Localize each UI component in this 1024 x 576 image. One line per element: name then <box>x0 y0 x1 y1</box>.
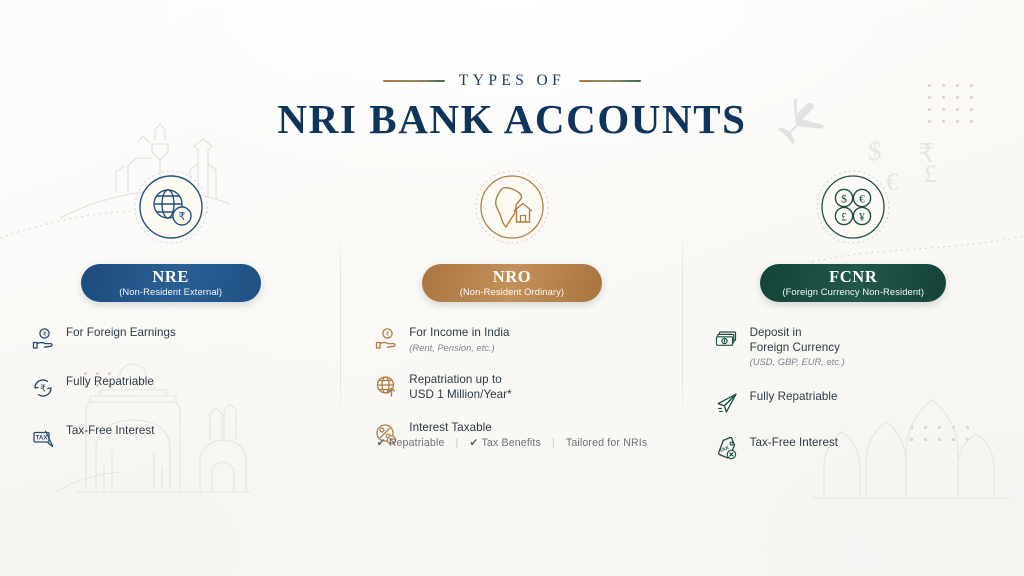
globe-up-arrow-icon <box>374 374 398 398</box>
feature-text: Interest Taxable <box>409 421 491 436</box>
footer-separator: | <box>552 437 555 449</box>
badge-nre: ₹ <box>132 168 210 246</box>
pill-fcnr[interactable]: FCNR (Foreign Currency Non-Resident) <box>760 264 946 302</box>
account-column-nre: ₹ NRE (Non-Resident External) ₹ For Fore… <box>0 168 341 482</box>
pill-full-name: (Non-Resident External) <box>119 287 222 297</box>
pill-full-name: (Non-Resident Ordinary) <box>460 287 564 297</box>
eyebrow-row: TYPES OF <box>0 72 1024 90</box>
eyebrow-rule-right <box>579 80 641 82</box>
paper-plane-icon <box>715 391 739 415</box>
svg-text:₹: ₹ <box>42 332 46 339</box>
footer-item-repatriable: ✔Repatriable <box>377 437 445 449</box>
multi-currency-coins-icon: $ € £ ¥ <box>814 168 892 246</box>
feature-text: Fully Repatriable <box>750 390 838 405</box>
repatriate-rupee-arrows-icon: ₹ <box>31 376 55 400</box>
feature-list-fcnr: Deposit in Foreign Currency (USD, GBP, E… <box>651 326 1024 482</box>
svg-text:€: € <box>859 193 865 205</box>
feature-text: Fully Repatriable <box>66 375 154 390</box>
feature-label: Fully Repatriable <box>66 375 154 390</box>
badge-nro <box>473 168 551 246</box>
account-column-nro: NRO (Non-Resident Ordinary) ₹ For Income… <box>341 168 682 482</box>
footer-item-2-label: Tax Benefits <box>481 437 541 449</box>
badge-fcnr: $ € £ ¥ <box>814 168 892 246</box>
feature-text: For Foreign Earnings <box>66 326 176 341</box>
header: TYPES OF NRI BANK ACCOUNTS <box>0 72 1024 143</box>
feature-label-line2: Foreign Currency <box>750 341 845 356</box>
pill-nre[interactable]: NRE (Non-Resident External) <box>81 264 261 302</box>
footer-item-3-label: Tailored for NRIs <box>566 437 647 449</box>
feature-item: Deposit in Foreign Currency (USD, GBP, E… <box>715 326 1024 369</box>
pill-abbr: NRO <box>493 269 531 286</box>
check-icon: ✔ <box>469 437 478 449</box>
hand-rupee-coin-icon: ₹ <box>374 327 398 351</box>
feature-label: Fully Repatriable <box>750 390 838 405</box>
footer-item-tax-benefits: ✔Tax Benefits <box>469 437 541 449</box>
feature-label: For Foreign Earnings <box>66 326 176 341</box>
feature-sublabel: (Rent, Pension, etc.) <box>409 342 509 354</box>
india-map-house-icon <box>473 168 551 246</box>
feature-label: Interest Taxable <box>409 421 491 436</box>
check-icon: ✔ <box>377 437 386 449</box>
feature-item: Fully Repatriable <box>715 390 1024 415</box>
account-columns: ₹ NRE (Non-Resident External) ₹ For Fore… <box>0 168 1024 482</box>
footer-item-1-label: Repatriable <box>389 437 445 449</box>
pill-abbr: FCNR <box>829 269 877 286</box>
feature-text: Repatriation up to USD 1 Million/Year* <box>409 373 511 402</box>
feature-label-line1: Deposit in <box>750 326 845 341</box>
pill-nro[interactable]: NRO (Non-Resident Ordinary) <box>422 264 602 302</box>
feature-text: For Income in India (Rent, Pension, etc.… <box>409 326 509 354</box>
eyebrow-text: TYPES OF <box>459 72 565 90</box>
globe-rupee-icon: ₹ <box>132 168 210 246</box>
svg-text:₹: ₹ <box>386 332 390 339</box>
page-title: NRI BANK ACCOUNTS <box>0 97 1024 143</box>
svg-text:₹: ₹ <box>40 383 46 394</box>
footer-separator: | <box>456 437 459 449</box>
svg-text:₹: ₹ <box>178 211 185 223</box>
feature-label: For Income in India <box>409 326 509 341</box>
banknotes-icon <box>715 327 739 351</box>
eyebrow-rule-left <box>383 80 445 82</box>
feature-label-line1: Repatriation up to <box>409 373 511 388</box>
svg-text:$: $ <box>841 192 847 205</box>
account-column-fcnr: $ € £ ¥ FCNR (Foreign Currency Non-Resid… <box>683 168 1024 482</box>
svg-text:£: £ <box>841 211 847 223</box>
feature-label-line2: USD 1 Million/Year* <box>409 388 511 403</box>
svg-text:¥: ¥ <box>859 211 865 223</box>
hand-rupee-coin-icon: ₹ <box>31 327 55 351</box>
footer-benefits: ✔Repatriable | ✔Tax Benefits | Tailored … <box>0 437 1024 449</box>
feature-text: Deposit in Foreign Currency (USD, GBP, E… <box>750 326 845 369</box>
pill-full-name: (Foreign Currency Non-Resident) <box>782 287 924 297</box>
pill-abbr: NRE <box>152 269 189 286</box>
feature-sublabel: (USD, GBP, EUR, etc.) <box>750 356 845 368</box>
